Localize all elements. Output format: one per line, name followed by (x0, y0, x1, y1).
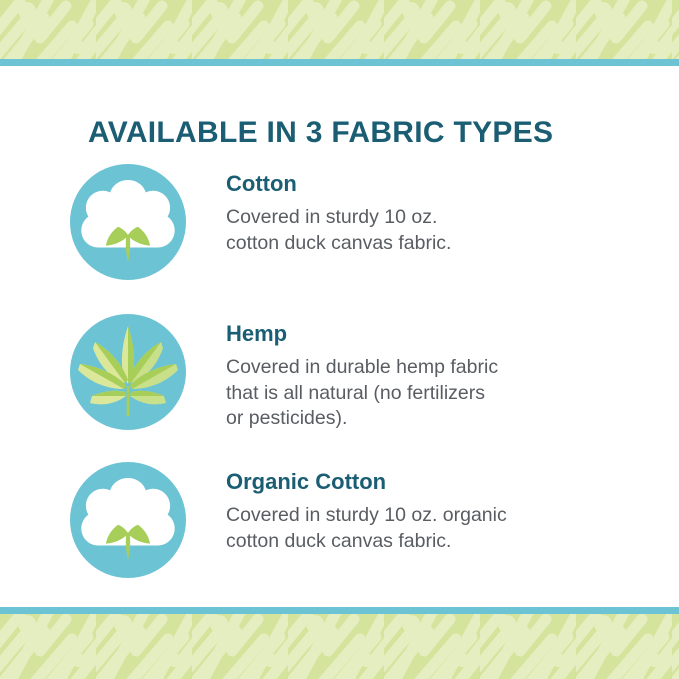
infographic-page: AVAILABLE IN 3 FABRIC TYPES Cotton Cover… (0, 0, 679, 679)
top-teal-rule (0, 59, 679, 66)
feature-body-line: Covered in sturdy 10 oz. organic (226, 503, 507, 528)
bottom-decorative-band (0, 607, 679, 679)
feature-body-line: that is all natural (no fertilizers (226, 381, 498, 406)
cotton-boll-icon (68, 162, 188, 282)
feature-body-line: or pesticides). (226, 406, 498, 431)
bottom-teal-rule (0, 607, 679, 614)
hemp-leaf-icon-graphic (68, 312, 188, 432)
feature-heading: Cotton (226, 172, 451, 196)
page-title: AVAILABLE IN 3 FABRIC TYPES (88, 116, 553, 150)
feature-row-hemp: Hemp Covered in durable hemp fabric that… (68, 312, 498, 432)
feature-body-line: Covered in durable hemp fabric (226, 355, 498, 380)
feature-body-line: cotton duck canvas fabric. (226, 231, 451, 256)
feature-body: Covered in sturdy 10 oz. organic cotton … (226, 503, 507, 554)
feature-row-cotton: Cotton Covered in sturdy 10 oz. cotton d… (68, 162, 451, 282)
feature-row-organic-cotton: Organic Cotton Covered in sturdy 10 oz. … (68, 460, 507, 580)
feature-text-cotton: Cotton Covered in sturdy 10 oz. cotton d… (226, 162, 451, 256)
top-band-stripe-pattern (0, 0, 679, 66)
bottom-band-stripe-pattern (0, 607, 679, 679)
feature-body: Covered in sturdy 10 oz. cotton duck can… (226, 205, 451, 256)
feature-body-line: cotton duck canvas fabric. (226, 529, 507, 554)
feature-heading: Hemp (226, 322, 498, 346)
feature-text-hemp: Hemp Covered in durable hemp fabric that… (226, 312, 498, 431)
top-decorative-band (0, 0, 679, 66)
feature-body: Covered in durable hemp fabric that is a… (226, 355, 498, 431)
feature-heading: Organic Cotton (226, 470, 507, 494)
feature-text-organic-cotton: Organic Cotton Covered in sturdy 10 oz. … (226, 460, 507, 554)
cotton-boll-icon-graphic (68, 162, 188, 282)
hemp-leaf-icon (68, 312, 188, 432)
feature-body-line: Covered in sturdy 10 oz. (226, 205, 451, 230)
cotton-boll-icon (68, 460, 188, 580)
cotton-boll-icon-graphic (68, 460, 188, 580)
